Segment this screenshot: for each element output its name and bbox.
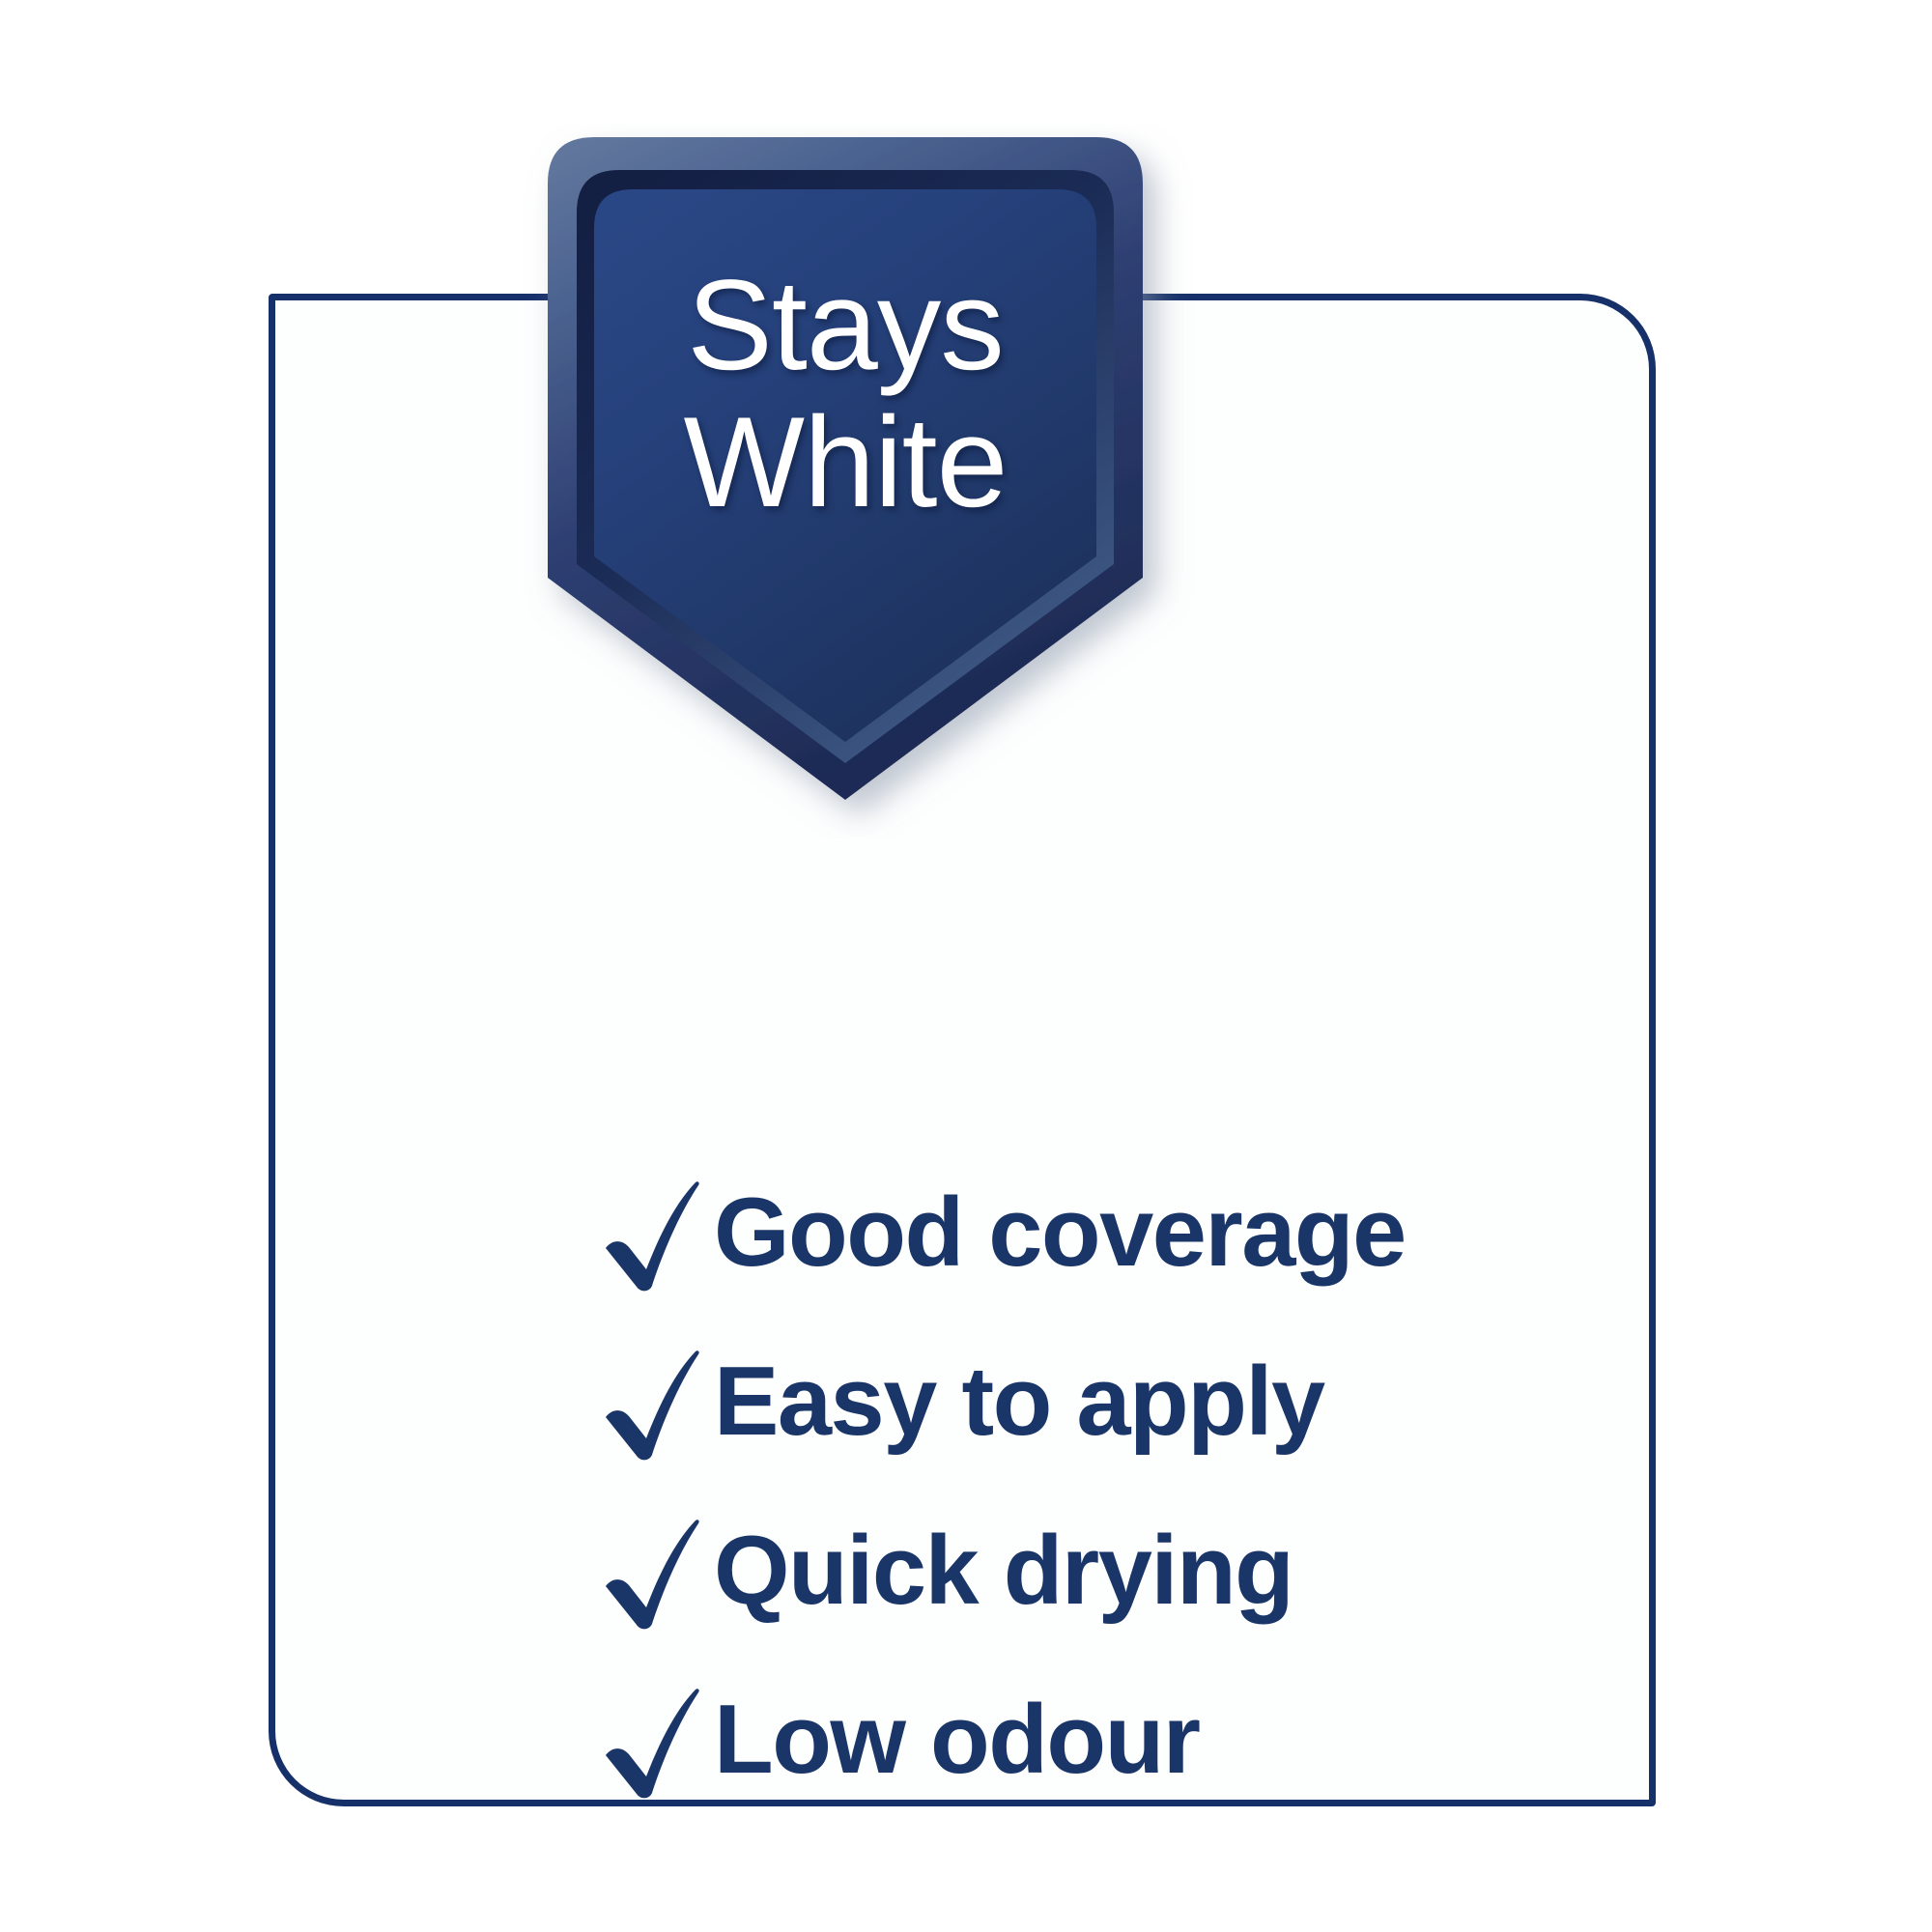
- checkmark-icon: [600, 1686, 714, 1800]
- list-item: Quick drying: [600, 1489, 1740, 1658]
- list-item: Low odour: [600, 1658, 1740, 1827]
- feature-list: Good coverage Easy to apply Quick drying: [600, 1151, 1740, 1827]
- checkmark-icon: [600, 1348, 714, 1462]
- stays-white-badge: Stays White: [488, 124, 1203, 838]
- list-item-label: Low odour: [714, 1691, 1200, 1789]
- list-item-label: Easy to apply: [714, 1353, 1324, 1451]
- product-feature-graphic: Good coverage Easy to apply Quick drying: [0, 0, 1932, 1932]
- list-item: Easy to apply: [600, 1320, 1740, 1489]
- list-item-label: Quick drying: [714, 1522, 1293, 1620]
- checkmark-icon: [600, 1179, 714, 1293]
- shield-icon: [488, 124, 1203, 838]
- list-item: Good coverage: [600, 1151, 1740, 1320]
- list-item-label: Good coverage: [714, 1184, 1406, 1282]
- checkmark-icon: [600, 1517, 714, 1631]
